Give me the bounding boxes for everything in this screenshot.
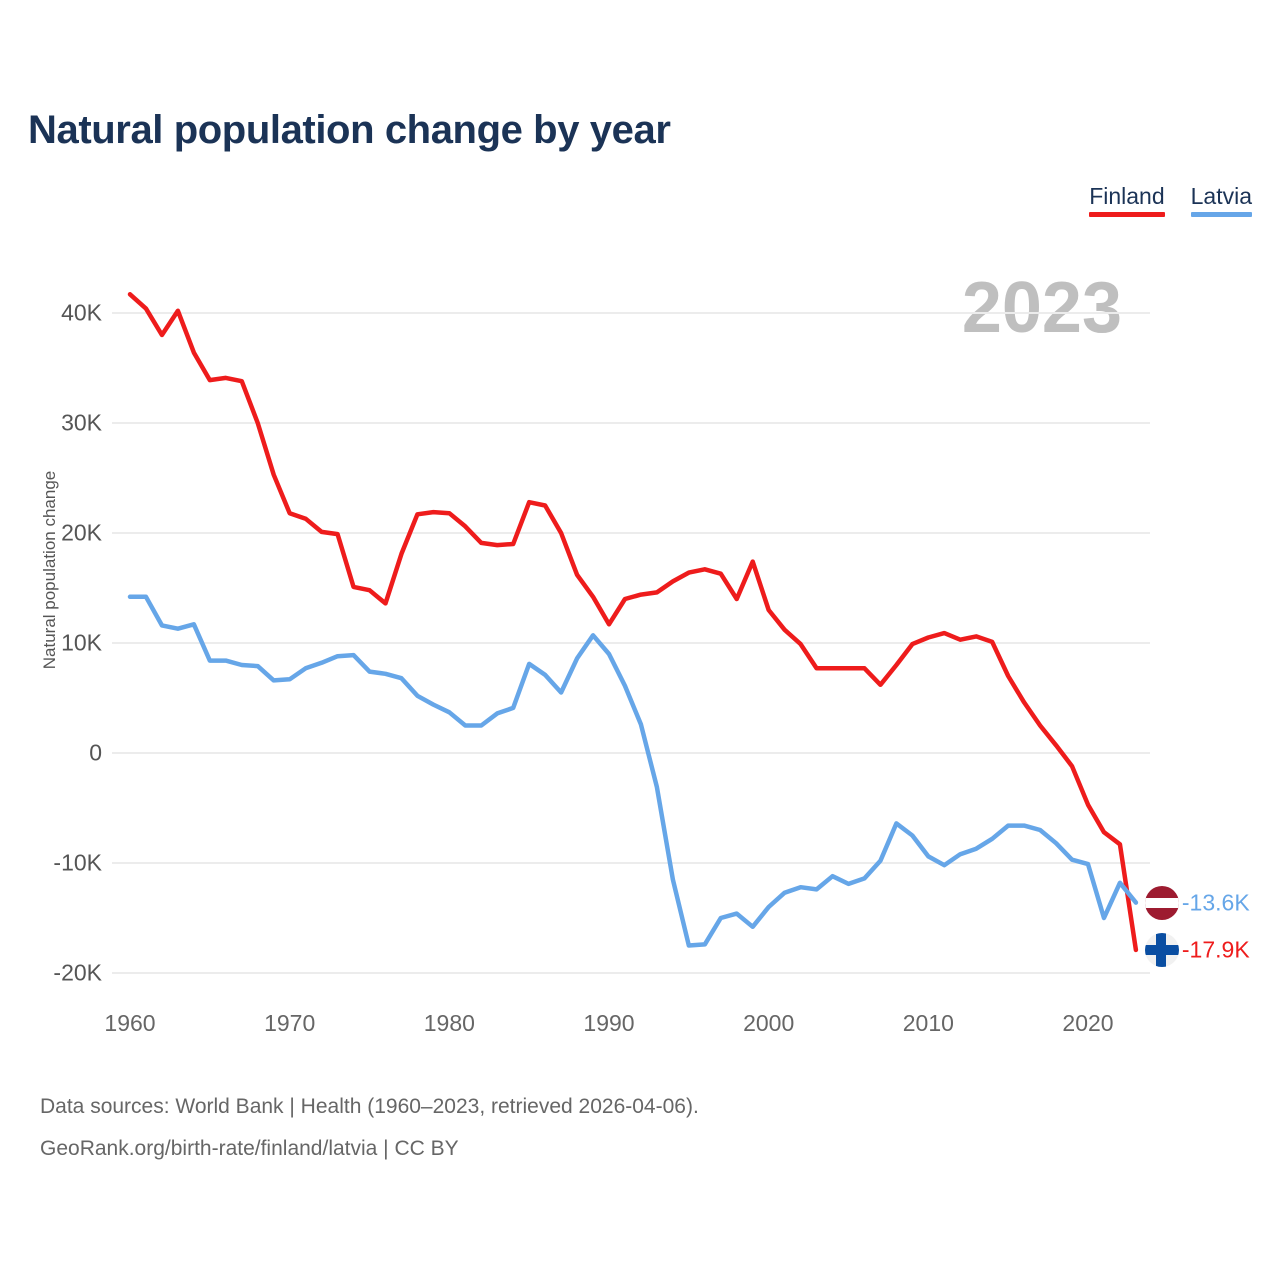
x-tick-label: 1990 <box>583 1010 634 1037</box>
y-axis-label: Natural population change <box>40 460 60 680</box>
y-tick-label: -10K <box>0 850 102 877</box>
footer-line-1: Data sources: World Bank | Health (1960–… <box>40 1086 699 1128</box>
flag-cross-horizontal <box>1145 945 1179 955</box>
end-value-label-latvia: -13.6K <box>1182 889 1250 916</box>
x-tick-label: 1980 <box>424 1010 475 1037</box>
finland-flag-icon <box>1145 933 1179 967</box>
x-tick-label: 2020 <box>1062 1010 1113 1037</box>
latvia-flag-icon <box>1145 886 1179 920</box>
series-line-latvia <box>130 597 1136 946</box>
flag-band <box>1145 898 1179 908</box>
y-tick-label: 30K <box>0 410 102 437</box>
x-tick-label: 1960 <box>104 1010 155 1037</box>
x-tick-label: 2000 <box>743 1010 794 1037</box>
x-tick-label: 2010 <box>903 1010 954 1037</box>
footer-credits: Data sources: World Bank | Health (1960–… <box>40 1086 699 1170</box>
y-tick-label: -20K <box>0 960 102 987</box>
end-value-label-finland: -17.9K <box>1182 936 1250 963</box>
chart-page: Natural population change by year Finlan… <box>0 0 1280 1280</box>
series-line-finland <box>130 294 1136 950</box>
x-tick-label: 1970 <box>264 1010 315 1037</box>
footer-line-2: GeoRank.org/birth-rate/finland/latvia | … <box>40 1128 699 1170</box>
y-tick-label: 0 <box>0 740 102 767</box>
y-tick-label: 40K <box>0 300 102 327</box>
